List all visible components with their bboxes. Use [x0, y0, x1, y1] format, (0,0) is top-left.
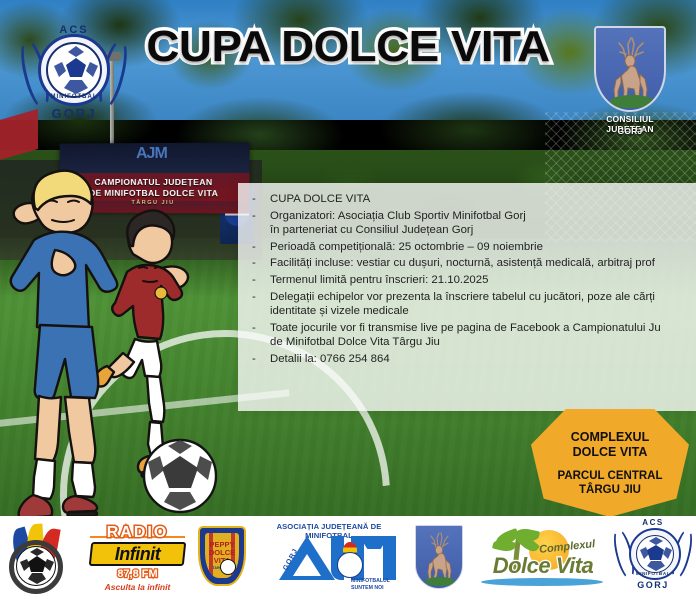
ball-svg: [637, 536, 675, 574]
item-line1: Detalii la: 0766 254 864: [270, 353, 390, 365]
bullet-dash: -: [252, 352, 256, 367]
ajm-letter-m-right: [383, 536, 396, 580]
venue-line1: COMPLEXUL: [571, 430, 649, 444]
crest-gorj-text: GORJ: [22, 106, 126, 121]
radio-slogan: Asculta la infinit: [86, 582, 189, 592]
venue-line4: TÂRGU JIU: [579, 484, 641, 496]
ajm-gorj-logo: ASOCIAȚIA JUDEȚEANĂ DE MINIFOTBAL GORJ M…: [255, 516, 403, 599]
peppy-shield-inner: PEPPY DOLCE VITA TARGU JIU: [205, 533, 239, 578]
list-item: - CUPA DOLCE VITA: [246, 192, 690, 207]
list-item: - Facilități incluse: vestiar cu dușuri,…: [246, 256, 690, 271]
frf-flame-logo-icon: [0, 516, 86, 599]
list-item: - Detalii la: 0766 254 864: [246, 352, 690, 367]
item-line2: identitate și vizele medicale: [270, 304, 690, 319]
ball-svg: [17, 547, 56, 586]
soccer-ball-icon: [636, 535, 674, 573]
item-line1: Facilități incluse: vestiar cu dușuri, n…: [270, 257, 655, 269]
wave-icon: [481, 578, 603, 586]
radio-brand: Infinit: [86, 544, 189, 565]
bullet-dash: -: [252, 209, 256, 224]
heraldic-shield: [594, 26, 666, 112]
radio-frequency: 87,8 FM: [86, 568, 189, 580]
poster-header: ACS MINIFOTBAL GORJ CUPA DOLCE VITA CO: [0, 0, 696, 150]
bullet-dash: -: [252, 273, 256, 288]
item-line1: Organizatori: Asociația Club Sportiv Min…: [270, 210, 526, 222]
cj-shield-small: [415, 525, 463, 589]
acs-mid-text: MINIFOTBAL: [613, 571, 693, 576]
poster-root: AJM CAMPIONATUL JUDEȚEAN DE MINIFOTBAL D…: [0, 0, 696, 599]
radio-word: RADIO: [86, 524, 189, 542]
ajm-letter-a-inner: [293, 554, 321, 576]
consiliul-judetean-gorj-crest-icon: CONSILIUL JUDEȚEAN GORJ: [590, 26, 670, 142]
peppy-shield: PEPPY DOLCE VITA TARGU JIU: [198, 526, 246, 586]
ajm-sub-line1: MINIFOTBALUL: [351, 578, 390, 584]
player-blue: [11, 171, 118, 523]
venue-badge-sub: PARCUL CENTRAL TÂRGU JIU: [558, 469, 663, 497]
acs-bottom-text: GORJ: [613, 580, 693, 590]
item-line1: Delegații echipelor vor prezenta la însc…: [270, 291, 655, 303]
venue-badge: COMPLEXUL DOLCE VITA PARCUL CENTRAL TÂRG…: [531, 409, 689, 517]
item-line2: de Minifotbal Dolce Vita Târgu Jiu: [270, 335, 690, 350]
acs-minifotbal-gorj-logo: ACS MINIFOTBAL GORJ: [613, 516, 693, 599]
item-line1: Termenul limită pentru înscrieri: 21.10.…: [270, 274, 488, 286]
list-item: - Termenul limită pentru înscrieri: 21.1…: [246, 273, 690, 288]
ajm-sub-line2: SUNTEM NOI: [351, 585, 384, 591]
soccer-players-illustration: [0, 150, 244, 525]
list-item: - Organizatori: Asociația Club Sportiv M…: [246, 209, 690, 238]
acs-top-text: ACS: [613, 518, 693, 527]
shield-grass-base: [425, 577, 455, 586]
complexul-dolce-vita-logo: Complexul Dolce Vita: [473, 516, 613, 599]
item-line1: Perioadă competițională: 25 octombrie – …: [270, 241, 543, 253]
sponsor-bar: RADIO Infinit 87,8 FM Asculta la infinit…: [0, 516, 696, 599]
soccer-ball-icon: [337, 552, 363, 578]
consiliul-judetean-gorj-shield-logo: [403, 516, 473, 599]
shield-grass-base: [610, 95, 654, 108]
radio-infinit-logo: RADIO Infinit 87,8 FM Asculta la infinit: [86, 516, 189, 599]
player-red: [94, 210, 188, 477]
crest-minifotbal-text: MINIFOTBAL: [22, 94, 126, 100]
list-item: - Delegații echipelor vor prezenta la în…: [246, 290, 690, 319]
list-item: - Perioadă competițională: 25 octombrie …: [246, 240, 690, 255]
bullet-dash: -: [252, 321, 256, 336]
dolce-vita-wordmark: Dolce Vita: [475, 553, 611, 579]
cj-caption-line2: GORJ: [590, 126, 670, 136]
bullet-dash: -: [252, 240, 256, 255]
item-line1: CUPA DOLCE VITA: [270, 193, 370, 205]
players-svg: [0, 150, 244, 525]
venue-line2: DOLCE VITA: [573, 445, 648, 459]
bullet-dash: -: [252, 290, 256, 305]
info-list: - CUPA DOLCE VITA - Organizatori: Asocia…: [238, 183, 696, 367]
peppy-dolce-vita-logo: PEPPY DOLCE VITA TARGU JIU: [189, 516, 255, 599]
venue-line3: PARCUL CENTRAL: [558, 470, 663, 482]
bullet-dash: -: [252, 192, 256, 207]
bullet-dash: -: [252, 256, 256, 271]
soccer-ball-icon: [16, 546, 56, 586]
info-panel: - CUPA DOLCE VITA - Organizatori: Asocia…: [238, 183, 696, 411]
list-item: - Toate jocurile vor fi transmise live p…: [246, 321, 690, 350]
soccer-ball: [144, 440, 216, 512]
venue-badge-title: COMPLEXUL DOLCE VITA: [571, 430, 649, 460]
item-line1: Toate jocurile vor fi transmise live pe …: [270, 322, 661, 334]
soccer-ball-icon: [220, 559, 236, 575]
item-line2: în parteneriat cu Consiliul Județean Gor…: [270, 223, 690, 238]
